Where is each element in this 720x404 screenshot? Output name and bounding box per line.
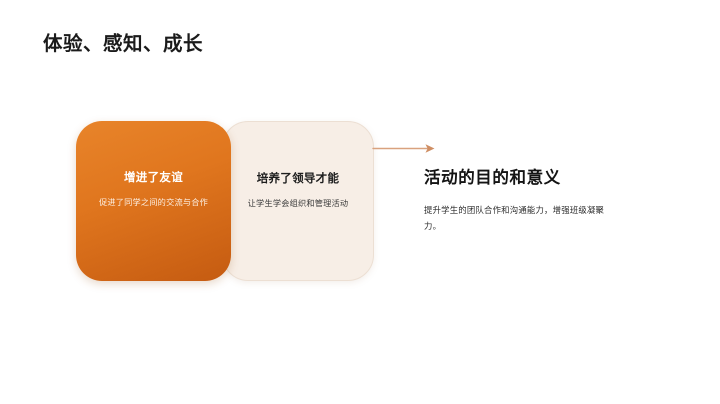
slide-canvas: 体验、感知、成长 培养了领导才能 让学生学会组织和管理活动 增进了友谊 促进了同… (0, 0, 720, 404)
info-card-body: 让学生学会组织和管理活动 (233, 197, 363, 211)
detail-heading: 活动的目的和意义 (424, 168, 620, 189)
detail-body: 提升学生的团队合作和沟通能力，增强班级凝聚力。 (424, 203, 620, 234)
info-card-leadership[interactable]: 培养了领导才能 让学生学会组织和管理活动 (222, 121, 374, 281)
info-card-heading: 培养了领导才能 (233, 172, 363, 186)
info-card-content: 增进了友谊 促进了同学之间的交流与合作 (76, 171, 231, 210)
page-title: 体验、感知、成长 (43, 27, 203, 56)
info-card-body: 促进了同学之间的交流与合作 (86, 196, 221, 210)
info-card-heading: 增进了友谊 (86, 171, 221, 185)
detail-section: 活动的目的和意义 提升学生的团队合作和沟通能力，增强班级凝聚力。 (424, 168, 620, 235)
info-card-content: 培养了领导才能 让学生学会组织和管理活动 (223, 172, 373, 211)
info-card-friendship[interactable]: 增进了友谊 促进了同学之间的交流与合作 (76, 121, 231, 281)
arrow-right-icon (372, 140, 436, 157)
